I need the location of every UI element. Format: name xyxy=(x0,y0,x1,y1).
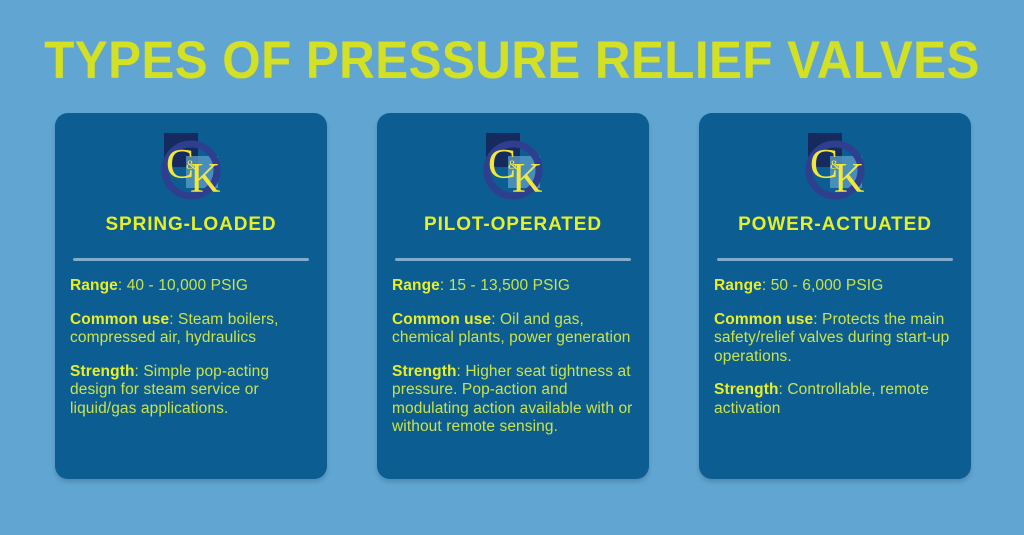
valve-type-card: C & K PILOT-OPERATED Range: 15 - 13,500 … xyxy=(377,113,649,479)
logo-container: C & K xyxy=(392,127,634,209)
ck-monogram-icon: C & K xyxy=(797,130,873,206)
fact-separator: : xyxy=(491,311,500,328)
fact-separator: : xyxy=(118,277,127,294)
logo-container: C & K xyxy=(70,127,312,209)
fact-label-strength: Strength xyxy=(392,363,457,380)
fact-label-range: Range xyxy=(714,277,762,294)
fact-separator: : xyxy=(813,311,822,328)
valve-type-card: C & K POWER-ACTUATED Range: 50 - 6,000 P… xyxy=(699,113,971,479)
logo-letter-k: K xyxy=(190,156,220,202)
fact-range: Range: 50 - 6,000 PSIG xyxy=(714,277,956,296)
fact-label-common-use: Common use xyxy=(70,311,169,328)
fact-common-use: Common use: Steam boilers, compressed ai… xyxy=(70,311,312,348)
fact-range: Range: 40 - 10,000 PSIG xyxy=(70,277,312,296)
fact-value-range: 40 - 10,000 PSIG xyxy=(127,277,248,294)
ck-monogram-icon: C & K xyxy=(475,130,551,206)
fact-range: Range: 15 - 13,500 PSIG xyxy=(392,277,634,296)
fact-separator: : xyxy=(762,277,771,294)
fact-strength: Strength: Simple pop-acting design for s… xyxy=(70,363,312,419)
card-facts: Range: 50 - 6,000 PSIG Common use: Prote… xyxy=(714,277,956,418)
card-heading: SPRING-LOADED xyxy=(70,213,312,237)
fact-common-use: Common use: Protects the main safety/rel… xyxy=(714,311,956,367)
fact-label-range: Range xyxy=(392,277,440,294)
card-heading: PILOT-OPERATED xyxy=(392,213,634,237)
fact-label-common-use: Common use xyxy=(714,311,813,328)
fact-label-range: Range xyxy=(70,277,118,294)
fact-strength: Strength: Controllable, remote activatio… xyxy=(714,381,956,418)
fact-strength: Strength: Higher seat tightness at press… xyxy=(392,363,634,437)
card-divider xyxy=(73,258,309,261)
infographic-page: TYPES OF PRESSURE RELIEF VALVES C & K SP… xyxy=(0,0,1024,535)
fact-value-range: 50 - 6,000 PSIG xyxy=(771,277,884,294)
valve-type-card: C & K SPRING-LOADED Range: 40 - 10,000 P… xyxy=(55,113,327,479)
valve-type-card-list: C & K SPRING-LOADED Range: 40 - 10,000 P… xyxy=(55,113,971,479)
card-facts: Range: 15 - 13,500 PSIG Common use: Oil … xyxy=(392,277,634,437)
fact-value-range: 15 - 13,500 PSIG xyxy=(449,277,570,294)
ck-monogram-icon: C & K xyxy=(153,130,229,206)
card-divider xyxy=(395,258,631,261)
fact-separator: : xyxy=(440,277,449,294)
logo-container: C & K xyxy=(714,127,956,209)
fact-label-common-use: Common use xyxy=(392,311,491,328)
fact-common-use: Common use: Oil and gas, chemical plants… xyxy=(392,311,634,348)
page-title: TYPES OF PRESSURE RELIEF VALVES xyxy=(36,31,988,91)
fact-label-strength: Strength xyxy=(714,381,779,398)
logo-letter-k: K xyxy=(834,156,864,202)
card-divider xyxy=(717,258,953,261)
card-facts: Range: 40 - 10,000 PSIG Common use: Stea… xyxy=(70,277,312,418)
card-heading: POWER-ACTUATED xyxy=(714,213,956,237)
fact-separator: : xyxy=(169,311,178,328)
logo-letter-k: K xyxy=(512,156,542,202)
fact-label-strength: Strength xyxy=(70,363,135,380)
